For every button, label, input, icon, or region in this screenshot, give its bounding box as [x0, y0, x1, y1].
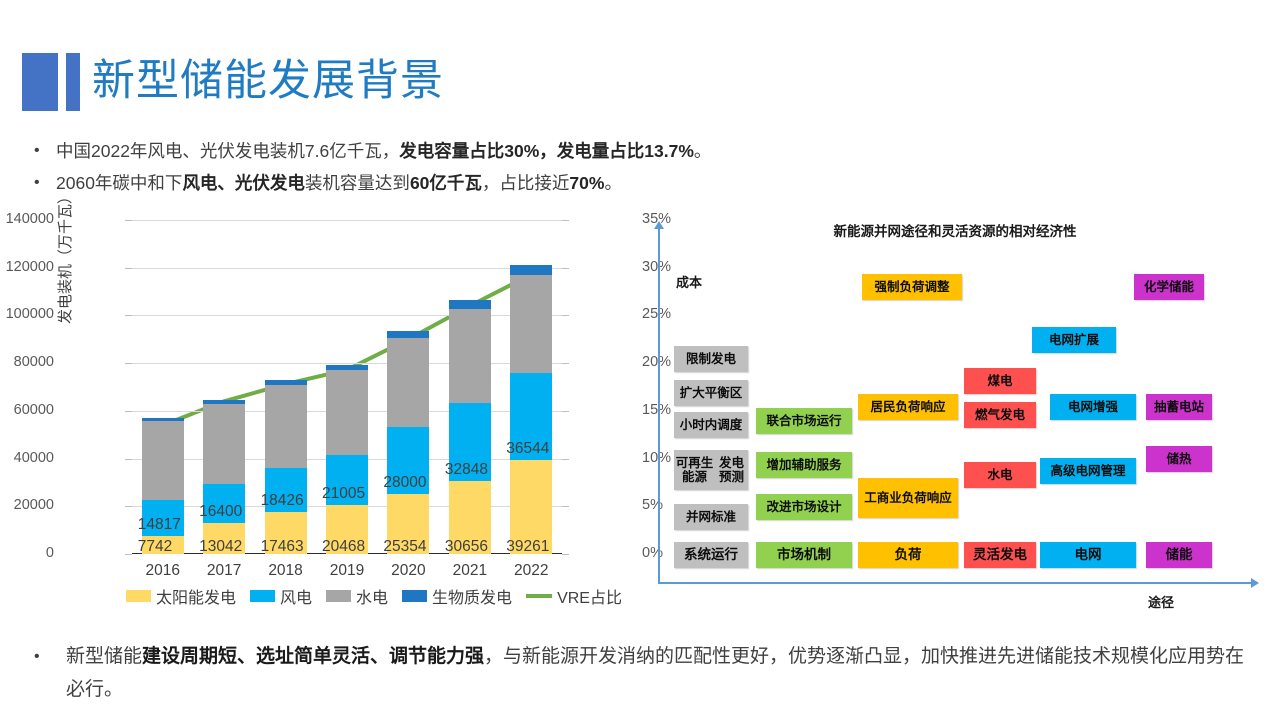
- chart-data-label-wind: 21005: [322, 485, 365, 503]
- diagram-title: 新能源并网途径和灵活资源的相对经济性: [652, 220, 1258, 240]
- chart-y2-tick-mark: [562, 506, 569, 507]
- chart-data-label-wind: 28000: [383, 474, 426, 492]
- bullet-item: • 中国2022年风电、光伏发电装机7.6亿千瓦，发电容量占比30%，发电量占比…: [34, 138, 1254, 164]
- chart-x-tick: 2022: [496, 562, 566, 580]
- chart-y-tick-mark: [125, 554, 132, 555]
- diagram-cost-axis: [658, 228, 660, 584]
- chart-y-tick: 40000: [0, 450, 54, 466]
- chart-y-tick: 0: [0, 545, 54, 561]
- chart-x-tick: 2021: [435, 562, 505, 580]
- legend-swatch-vre-line-icon: [526, 594, 552, 598]
- chart-y-tick: 20000: [0, 497, 54, 513]
- diagram-path-axis: [658, 582, 1252, 584]
- chart-bar: [449, 300, 491, 554]
- legend-label-biomass: 生物质发电: [432, 584, 512, 608]
- bullet-text-plain-3: ，占比接近: [482, 173, 570, 193]
- chart-bar-segment: [387, 338, 429, 426]
- legend-item-vre: VRE占比: [526, 584, 622, 608]
- diagram-box-label: 负荷响应: [902, 491, 952, 505]
- chart-y2-tick-mark: [562, 459, 569, 460]
- chart-y-tick-mark: [125, 220, 132, 221]
- chart-data-label-solar: 17463: [261, 538, 304, 556]
- economics-diagram: 新能源并网途径和灵活资源的相对经济性 成本 途径 强制负荷调整化学储能电网扩展限…: [652, 212, 1258, 612]
- chart-gridline: [132, 315, 562, 316]
- diagram-box-label: 扩大平衡区: [680, 386, 743, 400]
- diagram-footer-box: 负荷: [858, 542, 958, 568]
- chart-bar: [326, 365, 368, 554]
- bullet-marker: •: [34, 640, 66, 673]
- diagram-box-label: 高级电网管理: [1050, 464, 1125, 478]
- chart-y-tick-mark: [125, 363, 132, 364]
- diagram-box-label: 限制发电: [686, 352, 736, 366]
- diagram-box: 高级电网管理: [1040, 458, 1136, 484]
- bullet-text-tail: 。: [604, 173, 622, 193]
- legend-swatch-biomass-icon: [402, 590, 427, 602]
- chart-x-tick: 2020: [373, 562, 443, 580]
- diagram-box: 并网标准: [674, 504, 748, 530]
- diagram-box-label: 联合市场运行: [766, 414, 841, 428]
- page-title: 新型储能发展背景: [92, 50, 444, 112]
- diagram-footer-box: 市场机制: [756, 542, 852, 568]
- chart-plot-area: 00%200005%4000010%6000015%8000020%100000…: [132, 220, 562, 554]
- diagram-box-label: 可再生能源: [674, 456, 715, 485]
- diagram-y-axis-label: 成本: [676, 272, 702, 291]
- chart-y2-tick-mark: [562, 315, 569, 316]
- bullet-text-plain: 中国2022年风电、光伏发电装机7.6亿千瓦，: [56, 141, 399, 161]
- chart-bar-segment: [449, 309, 491, 402]
- chart-y-tick: 140000: [0, 211, 54, 227]
- diagram-box: 水电: [964, 462, 1036, 488]
- chart-y-axis-title: 发电装机（万千瓦）: [54, 189, 75, 324]
- chart-bar-segment: [326, 370, 368, 455]
- diagram-box-label: 燃气发电: [975, 408, 1025, 422]
- chart-y-tick-mark: [125, 411, 132, 412]
- chart-y-tick: 80000: [0, 354, 54, 370]
- bullet-item: • 2060年碳中和下风电、光伏发电装机容量达到60亿千瓦，占比接近70%。: [34, 170, 1254, 196]
- diagram-footer-box: 储能: [1146, 542, 1212, 568]
- chart-data-label-solar: 7742: [138, 538, 172, 556]
- diagram-footer-box: 灵活发电: [964, 542, 1036, 568]
- diagram-box-label: 储热: [1166, 452, 1191, 466]
- chart-data-label-wind: 18426: [261, 492, 304, 510]
- chart-y-tick: 60000: [0, 402, 54, 418]
- bullet-text-bold: 风电、光伏发电: [182, 173, 305, 193]
- chart-bar: [265, 380, 307, 554]
- legend-label-solar: 太阳能发电: [156, 584, 236, 608]
- chart-x-tick: 2019: [312, 562, 382, 580]
- chart-bar: [203, 400, 245, 554]
- top-bullet-list: • 中国2022年风电、光伏发电装机7.6亿千瓦，发电容量占比30%，发电量占比…: [34, 138, 1254, 202]
- chart-bar-segment: [265, 380, 307, 384]
- chart-y-tick: 120000: [0, 259, 54, 275]
- diagram-box-label: 水电: [987, 468, 1012, 482]
- diagram-box: 电网增强: [1050, 394, 1136, 420]
- bullet-text-bold-2: 60亿千瓦: [410, 173, 482, 193]
- diagram-box: 联合市场运行: [756, 408, 852, 434]
- chart-y2-tick-mark: [562, 220, 569, 221]
- diagram-box: 扩大平衡区: [674, 380, 748, 406]
- diagram-footer-box: 电网: [1040, 542, 1136, 568]
- bullet-text-bold: 发电容量占比30%，发电量占比13.7%: [399, 141, 694, 161]
- diagram-box: 工商业负荷响应: [858, 478, 958, 518]
- diagram-box: 化学储能: [1134, 274, 1204, 300]
- chart-y2-tick-mark: [562, 268, 569, 269]
- chart-data-label-wind: 36544: [506, 440, 549, 458]
- chart-bar-segment: [142, 418, 184, 421]
- bullet-text-bold-3: 70%: [569, 173, 604, 193]
- legend-label-vre: VRE占比: [557, 584, 622, 608]
- legend-item-biomass: 生物质发电: [402, 584, 512, 608]
- diagram-box-label: 改进市场设计: [766, 500, 841, 514]
- bullet-marker: •: [34, 138, 56, 164]
- diagram-box: 强制负荷调整: [862, 274, 962, 300]
- diagram-box-label: 化学储能: [1144, 280, 1194, 294]
- diagram-box: 限制发电: [674, 346, 748, 372]
- diagram-box-label: 并网标准: [686, 510, 736, 524]
- bullet-text-tail: 。: [694, 141, 712, 161]
- chart-legend: 太阳能发电 风电 水电 生物质发电 VRE占比: [126, 584, 629, 608]
- bullet-text-plain: 新型储能: [66, 646, 142, 667]
- chart-data-label-solar: 13042: [199, 538, 242, 556]
- diagram-box: 小时内调度: [674, 412, 748, 438]
- diagram-box: 燃气发电: [964, 402, 1036, 428]
- diagram-box: 居民负荷响应: [858, 394, 958, 420]
- chart-data-label-solar: 30656: [445, 538, 488, 556]
- diagram-box-label: 煤电: [987, 374, 1012, 388]
- legend-swatch-solar-icon: [126, 590, 151, 602]
- chart-bar-segment: [387, 331, 429, 338]
- diagram-box-label: 小时内调度: [680, 418, 743, 432]
- diagram-box-label: 发电预测: [715, 456, 748, 485]
- chart-bar-segment: [326, 365, 368, 370]
- diagram-box: 煤电: [964, 368, 1036, 394]
- title-accent-bar-thin: [66, 53, 80, 111]
- diagram-box: 电网扩展: [1032, 327, 1116, 353]
- diagram-box: 改进市场设计: [756, 494, 852, 520]
- chart-gridline: [132, 268, 562, 269]
- chart-bar: [387, 331, 429, 554]
- legend-label-hydro: 水电: [356, 584, 388, 608]
- bottom-bullet-list: • 新型储能建设周期短、选址简单灵活、调节能力强，与新能源开发消纳的匹配性更好，…: [34, 640, 1256, 706]
- diagram-box-label: 电网扩展: [1049, 333, 1099, 347]
- diagram-box-label: 工商业: [864, 491, 902, 505]
- legend-item-solar: 太阳能发电: [126, 584, 236, 608]
- slide-root: 新型储能发展背景 • 中国2022年风电、光伏发电装机7.6亿千瓦，发电容量占比…: [0, 0, 1280, 720]
- diagram-box: 增加辅助服务: [756, 452, 852, 478]
- chart-y2-tick-mark: [562, 411, 569, 412]
- chart-bar-segment: [265, 385, 307, 469]
- chart-data-label-wind: 32848: [445, 461, 488, 479]
- diagram-footer-box: 系统运行: [674, 542, 748, 568]
- chart-data-label-solar: 25354: [383, 538, 426, 556]
- bullet-text: 中国2022年风电、光伏发电装机7.6亿千瓦，发电容量占比30%，发电量占比13…: [56, 138, 711, 164]
- chart-x-tick: 2016: [128, 562, 198, 580]
- chart-x-tick: 2017: [189, 562, 259, 580]
- chart-bar-segment: [203, 404, 245, 484]
- chart-y-tick-mark: [125, 459, 132, 460]
- diagram-box-label: 强制负荷调整: [874, 280, 949, 294]
- chart-y-tick-mark: [125, 268, 132, 269]
- bullet-marker: •: [34, 170, 56, 196]
- diagram-box-label: 电网增强: [1068, 400, 1118, 414]
- bullet-text: 新型储能建设周期短、选址简单灵活、调节能力强，与新能源开发消纳的匹配性更好，优势…: [66, 640, 1256, 706]
- legend-swatch-wind-icon: [250, 590, 275, 602]
- diagram-box: 可再生能源发电预测: [674, 450, 748, 490]
- chart-y-tick: 100000: [0, 306, 54, 322]
- legend-label-wind: 风电: [280, 584, 312, 608]
- diagram-x-axis-label: 途径: [1148, 592, 1174, 611]
- chart-x-tick: 2018: [251, 562, 321, 580]
- chart-bar-segment: [449, 300, 491, 309]
- chart-y-tick-mark: [125, 315, 132, 316]
- bullet-text-bold: 建设周期短、选址简单灵活、调节能力强: [142, 646, 484, 667]
- chart-bar-segment: [142, 421, 184, 500]
- chart-data-label-solar: 39261: [506, 538, 549, 556]
- chart-y2-tick-mark: [562, 554, 569, 555]
- legend-item-wind: 风电: [250, 584, 312, 608]
- bullet-text: 2060年碳中和下风电、光伏发电装机容量达到60亿千瓦，占比接近70%。: [56, 170, 622, 196]
- title-accent-bar-wide: [22, 53, 58, 111]
- diagram-box: 储热: [1146, 446, 1212, 472]
- chart-data-label-wind: 16400: [199, 503, 242, 521]
- chart-bar-segment: [203, 400, 245, 404]
- chart-gridline: [132, 220, 562, 221]
- bullet-text-plain-2: 装机容量达到: [305, 173, 410, 193]
- diagram-box: 抽蓄电站: [1146, 394, 1212, 420]
- diagram-box-label: 抽蓄电站: [1154, 400, 1204, 414]
- chart-y2-tick-mark: [562, 363, 569, 364]
- installed-capacity-chart: 发电装机（万千瓦） 00%200005%4000010%6000015%8000…: [60, 206, 640, 616]
- chart-y-tick-mark: [125, 506, 132, 507]
- chart-bar: [142, 418, 184, 554]
- legend-item-hydro: 水电: [326, 584, 388, 608]
- chart-bar-segment: [510, 265, 552, 275]
- chart-bar-segment: [510, 275, 552, 374]
- diagram-box-label: 居民负荷响应: [870, 400, 945, 414]
- chart-data-label-wind: 14817: [138, 516, 181, 534]
- legend-swatch-hydro-icon: [326, 590, 351, 602]
- diagram-box-label: 增加辅助服务: [766, 458, 841, 472]
- chart-data-label-solar: 20468: [322, 538, 365, 556]
- bullet-item: • 新型储能建设周期短、选址简单灵活、调节能力强，与新能源开发消纳的匹配性更好，…: [34, 640, 1256, 706]
- chart-bar: [510, 265, 552, 554]
